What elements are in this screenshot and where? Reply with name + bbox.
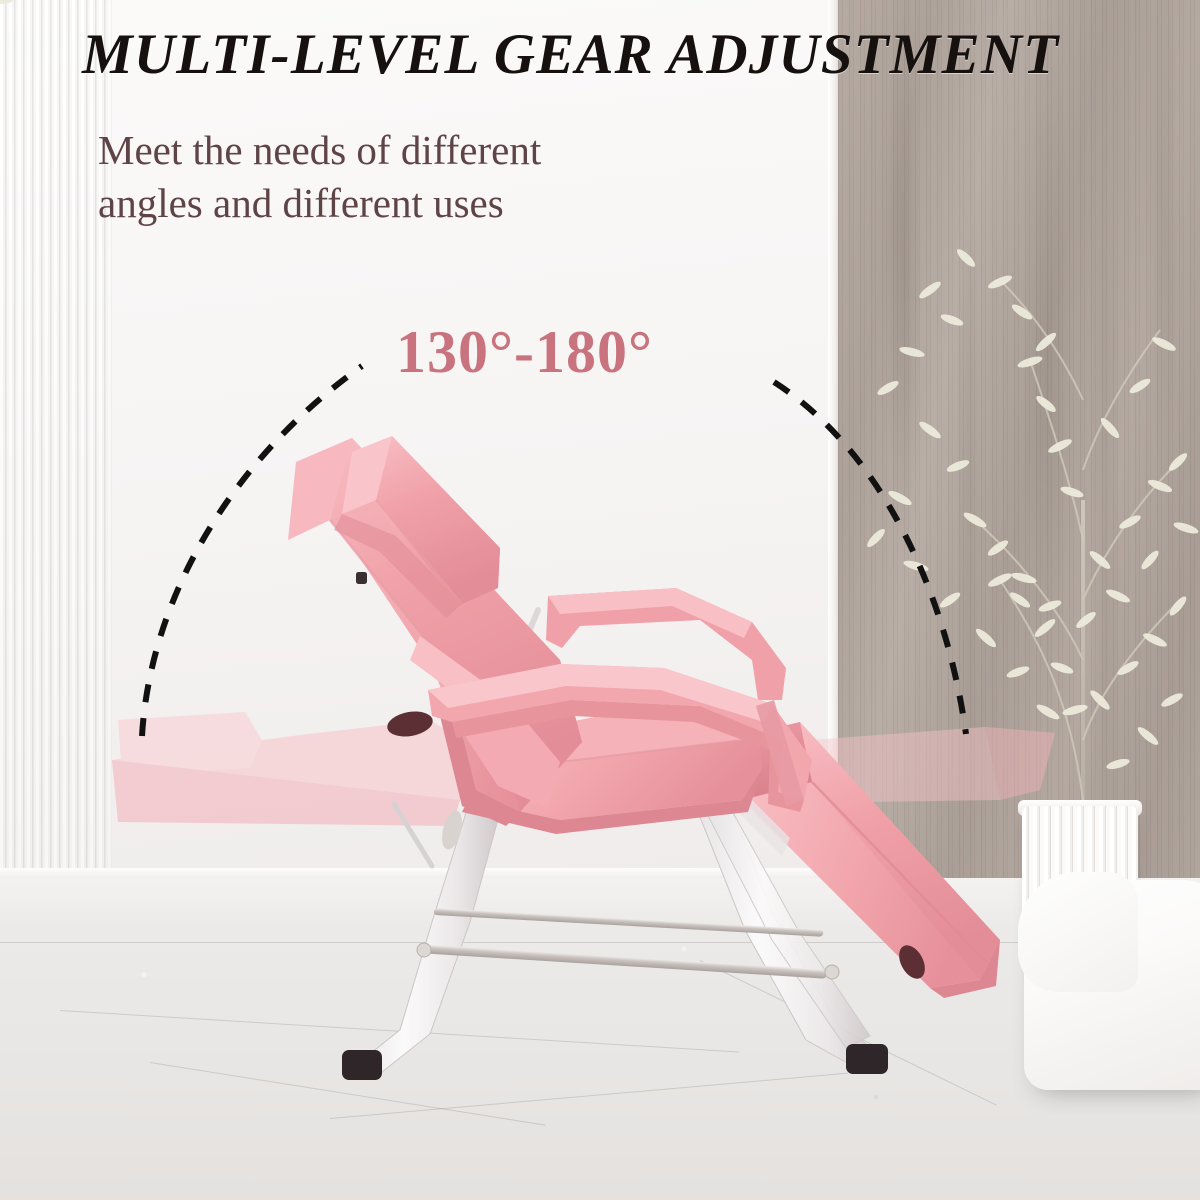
- product-marketing-image: MULTI-LEVEL GEAR ADJUSTMENT Meet the nee…: [0, 0, 1200, 1200]
- rubber-foot-front: [342, 1050, 382, 1080]
- a-frame-leg-front: [352, 800, 500, 1072]
- page-subtitle: Meet the needs of different angles and d…: [98, 124, 738, 231]
- page-title: MULTI-LEVEL GEAR ADJUSTMENT: [82, 24, 1172, 86]
- subtitle-line-1: Meet the needs of different: [98, 124, 738, 177]
- side-knob: [356, 572, 367, 584]
- rubber-foot-rear: [846, 1044, 888, 1074]
- subtitle-line-2: angles and different uses: [98, 177, 738, 230]
- angle-range-label: 130°-180°: [396, 318, 653, 387]
